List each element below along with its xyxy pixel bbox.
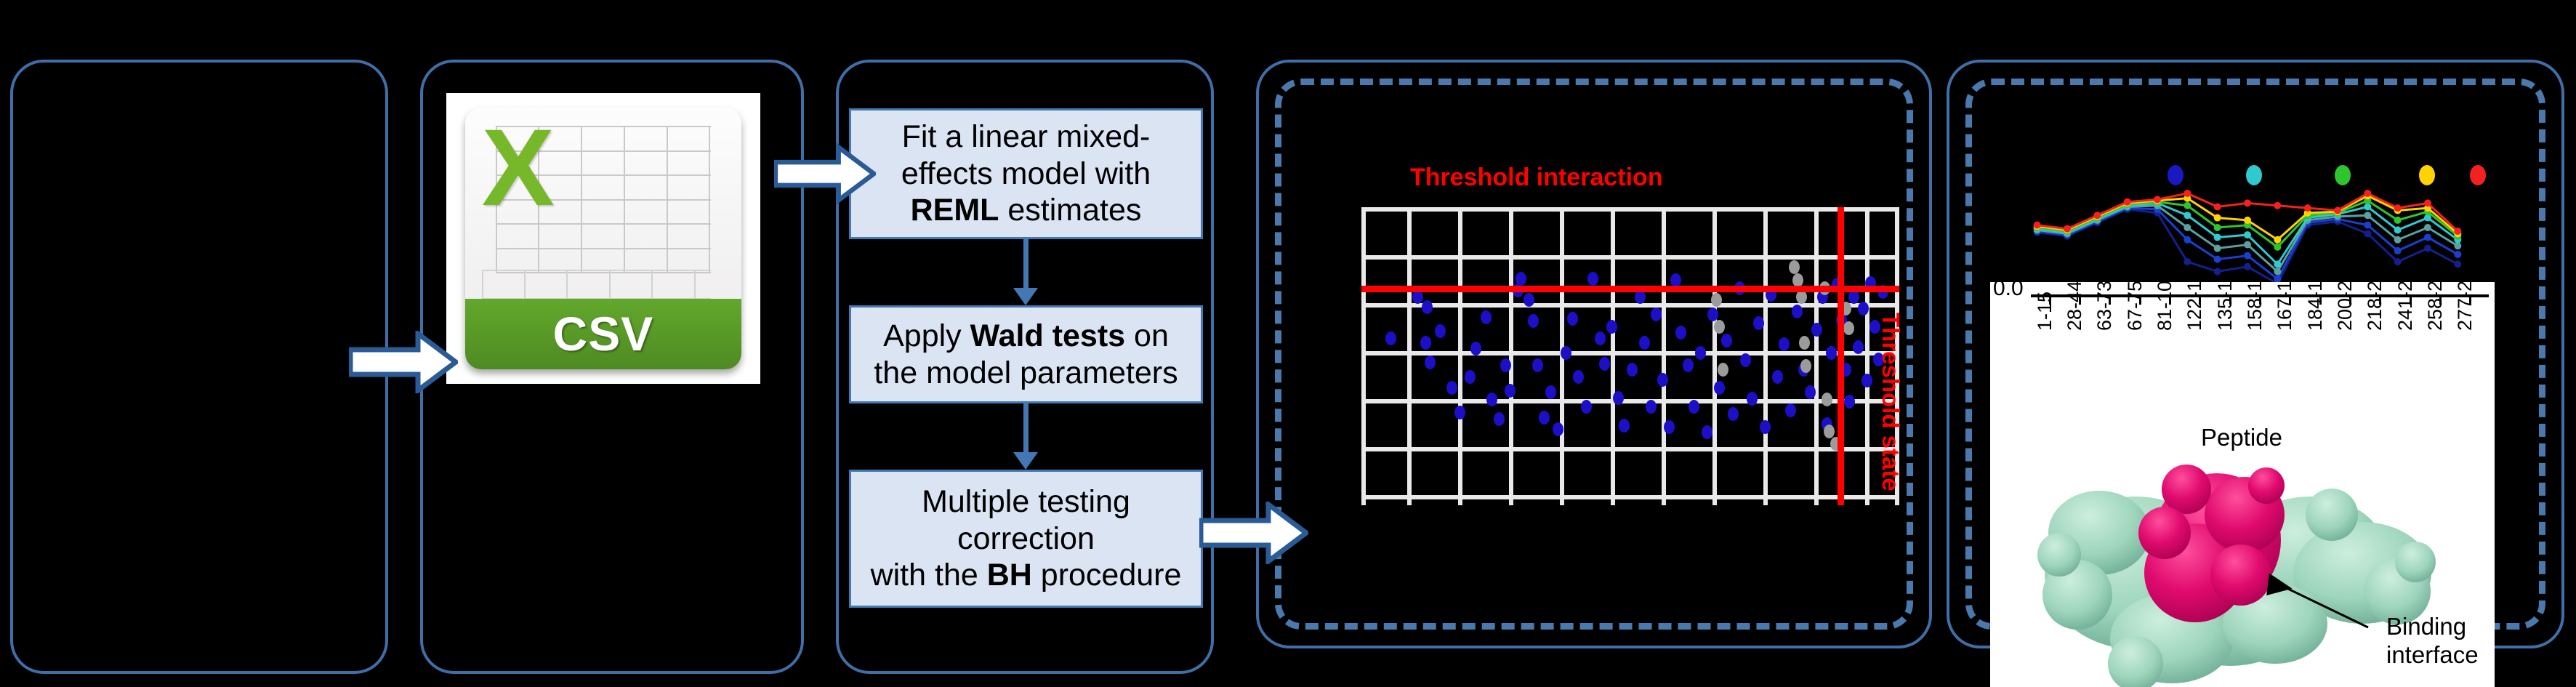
scatter-point (1646, 400, 1657, 414)
scatter-point (1539, 411, 1550, 425)
peptide-series-point (2244, 199, 2251, 206)
peptide-series-point (2424, 224, 2431, 231)
grid-line-v (1763, 207, 1768, 505)
scatter-point (1500, 358, 1511, 372)
x-axis-tick-label: 1-15 (2034, 292, 2056, 331)
peptide-series-point (2394, 247, 2402, 254)
scatter-point (1844, 395, 1855, 409)
scatter-point (1528, 314, 1539, 328)
scatter-point (1675, 326, 1686, 340)
threshold-state-label: Threshold state (1877, 313, 1904, 491)
y-axis-zero-label: 0.0 (1993, 282, 2024, 301)
connector-1 (1023, 239, 1029, 292)
peptide-series-point (2424, 233, 2431, 241)
peptide-series-point (2183, 224, 2191, 231)
grid-line-v (1712, 207, 1717, 505)
peptide-series-point (2394, 204, 2402, 212)
scatter-point (1826, 346, 1837, 360)
scatter-point (1664, 420, 1675, 434)
peptide-series-point (2183, 190, 2191, 197)
scatter-point (1843, 321, 1854, 335)
scatter-point (1567, 312, 1578, 326)
connector-2-arrowhead (1013, 452, 1038, 470)
peptide-series-point (2244, 217, 2251, 224)
scatter-point (1573, 370, 1584, 384)
peptide-series-point (2274, 268, 2281, 275)
peptide-series-point (2154, 196, 2161, 203)
peptide-series-point (2394, 258, 2402, 265)
legend-dot-yellow (2419, 165, 2435, 185)
multiple-testing-box[interactable]: Multiple testingcorrectionwith the BH pr… (849, 470, 1203, 608)
scatter-point (1435, 324, 1446, 338)
scatter-point (1606, 320, 1617, 334)
scatter-point (1702, 425, 1712, 439)
scatter-point (1718, 363, 1728, 377)
peptide-series-point (2214, 203, 2221, 210)
scatter-point (1858, 302, 1869, 316)
peptide-series-point (2214, 268, 2221, 275)
x-axis-tick-label: 218-237 (2364, 282, 2386, 331)
grid-line-h (1361, 351, 1899, 355)
scatter-point (1422, 300, 1433, 314)
scatter-point (1516, 272, 1526, 286)
legend-dot-green (2335, 165, 2351, 185)
threshold-state-line (1838, 207, 1844, 505)
peptide-series-point (2364, 230, 2371, 237)
scatter-point (1689, 400, 1699, 414)
binding-interface-line-2: interface (2386, 641, 2479, 670)
scatter-point (1683, 358, 1694, 372)
peptide-series-point (2454, 260, 2461, 268)
scatter-point (1651, 308, 1662, 321)
grid-line-h (1361, 255, 1899, 260)
panel-input (10, 60, 388, 674)
peptide-series-point (2214, 224, 2221, 231)
grid-line-v (1814, 207, 1819, 505)
connector-1-arrowhead (1013, 288, 1038, 305)
fit-model-box-text: Fit a linear mixed-effects model withREM… (894, 116, 1158, 232)
scatter-point (1800, 359, 1811, 373)
peptide-series-point (2364, 190, 2371, 197)
scatter-point (1799, 336, 1810, 350)
peptide-series-point (2274, 202, 2281, 209)
peptide-series-point (2274, 236, 2281, 244)
scatter-point (1587, 272, 1598, 286)
peptide-series-point (2034, 222, 2041, 229)
grid-line-v (1611, 207, 1615, 505)
grid-line-h (1361, 303, 1899, 308)
scatter-point (1420, 336, 1431, 350)
wald-tests-box-text: Apply Wald tests onthe model parameters (866, 315, 1185, 394)
scatter-point (1714, 320, 1725, 334)
scatter-point (1454, 406, 1465, 419)
wald-tests-box[interactable]: Apply Wald tests onthe model parameters (849, 305, 1203, 403)
scatter-point (1532, 358, 1543, 372)
peptide-series-point (2454, 228, 2461, 235)
figure-canvas: X CSV Fit a linear mixed-effects model w… (0, 0, 2576, 687)
x-axis-tick-label: 184-199 (2304, 282, 2327, 331)
scatter-point (1465, 370, 1476, 384)
excel-x-glyph: X (482, 113, 555, 222)
threshold-interaction-label: Threshold interaction (1410, 164, 1663, 192)
scatter-point (1619, 419, 1630, 433)
csv-file-icon: X CSV (446, 93, 760, 384)
peptide-series-point (2214, 245, 2221, 252)
scatter-point (1385, 332, 1396, 345)
scatter-point (1545, 385, 1556, 399)
arrow-analysis-to-results (1199, 502, 1308, 564)
scatter-point (1740, 353, 1751, 367)
scatter-point (1714, 381, 1725, 395)
scatter-point (1595, 332, 1606, 345)
peptide-series-point (2424, 199, 2431, 206)
scatter-point (1695, 346, 1706, 360)
grid-line-v (1458, 207, 1462, 505)
scatter-point (1707, 308, 1718, 321)
peptide-series-point (2183, 236, 2191, 244)
scatter-point (1760, 420, 1771, 434)
grid-line-h (1361, 399, 1899, 403)
x-axis-tick-label: 67-75 (2124, 282, 2146, 331)
scatter-point (1822, 393, 1832, 406)
x-axis-tick-label: 28-44 (2064, 282, 2086, 331)
connector-2 (1023, 403, 1029, 456)
peptide-series-point (2274, 260, 2281, 268)
x-axis-tick-label: 277-284 (2454, 282, 2476, 331)
x-axis-tick-label: 63-73 (2093, 282, 2116, 331)
scatter-point (1728, 407, 1739, 421)
binding-interface-line-1: Binding (2386, 613, 2479, 641)
grid-line-v (1407, 207, 1412, 505)
legend-dot-red (2470, 165, 2486, 185)
peptide-series-point (2244, 241, 2251, 249)
scatter-point (1721, 334, 1732, 347)
scatter-point (1486, 393, 1497, 406)
legend-dot-blue (2168, 165, 2183, 185)
legend-dot-cyan (2246, 165, 2262, 185)
peptide-series-point (2364, 212, 2371, 219)
scatter-point (1505, 384, 1516, 398)
scatter-point (1481, 310, 1492, 324)
scatter-point (1779, 337, 1790, 351)
scatter-point (1494, 412, 1505, 426)
scatter-point (1805, 385, 1816, 399)
csv-icon-band: CSV (465, 299, 741, 369)
scatter-point (1561, 346, 1571, 360)
scatter-point (1599, 357, 1610, 371)
peptide-series-point (2364, 222, 2371, 229)
peptide-series-point (2334, 206, 2341, 214)
binding-interface-label: Binding interface (2386, 613, 2479, 670)
x-axis-tick-label: 135-144 (2214, 282, 2237, 331)
arrow-csv-to-analysis (774, 142, 876, 205)
scatter-point (1811, 323, 1822, 337)
peptide-series-point (2424, 245, 2431, 252)
x-axis-tick-label: 122-129 (2183, 282, 2206, 331)
multiple-testing-box-text: Multiple testingcorrectionwith the BH pr… (864, 481, 1189, 597)
peptide-series-point (2183, 202, 2191, 209)
x-axis-tick-label: 81-101 (2154, 282, 2176, 331)
peptide-structure-card: 0.0 1-1528-4463-7367-7581-101122-129135-… (1990, 282, 2495, 687)
scatter-point (1425, 355, 1436, 369)
x-axis-tick-label: 241-257 (2394, 282, 2417, 331)
x-axis-tick-label: 167-180 (2274, 282, 2296, 331)
grid-line-v (1509, 207, 1513, 505)
threshold-interaction-line (1361, 286, 1899, 292)
peptide-line-chart-svg (2006, 156, 2544, 294)
scatter-point (1657, 373, 1668, 387)
scatter-point (1581, 400, 1592, 414)
peptide-series-point (2064, 225, 2071, 233)
grid-line-v (1662, 207, 1666, 505)
scatter-point (1785, 403, 1796, 417)
peptide-series-point (2214, 214, 2221, 222)
scatter-point (1711, 293, 1722, 307)
peptide-series-point (2124, 198, 2131, 206)
peptide-series-point (2214, 233, 2221, 241)
fit-model-box[interactable]: Fit a linear mixed-effects model withREM… (849, 108, 1203, 239)
peptide-series-point (2304, 204, 2311, 212)
peptide-line-chart (2006, 156, 2544, 294)
interaction-scatter-plot (1361, 207, 1899, 505)
scatter-point (1792, 305, 1803, 318)
peptide-series-point (2214, 256, 2221, 263)
peptide-series-point (2274, 244, 2281, 251)
grid-line-h (1361, 447, 1899, 451)
peptide-series-point (2244, 231, 2251, 238)
csv-icon-caption: CSV (465, 306, 741, 361)
scatter-point (1446, 381, 1457, 395)
arrow-input-to-csv (349, 331, 458, 393)
scatter-point (1753, 316, 1764, 330)
scatter-point (1627, 363, 1638, 377)
grid-line-h (1361, 495, 1899, 499)
scatter-point (1639, 336, 1650, 350)
scatter-point (1772, 370, 1783, 384)
csv-icon-body: X CSV (465, 108, 741, 369)
grid-line-v (1865, 207, 1869, 505)
grid-line-h (1361, 207, 1899, 212)
peptide-series-point (2394, 226, 2402, 233)
peptide-series-point (2244, 252, 2251, 260)
peptide-series-point (2183, 258, 2191, 265)
scatter-point (1524, 293, 1534, 307)
x-axis-tick-label: 158-166 (2244, 282, 2266, 331)
peptide-series-point (2244, 263, 2251, 270)
x-axis-tick-label: 200-214 (2334, 282, 2356, 331)
peptide-series-point (2183, 212, 2191, 219)
grid-line-v (1361, 207, 1366, 505)
scatter-point (1789, 260, 1800, 274)
peptide-series-point (2394, 236, 2402, 244)
x-axis-tick-label: 258-266 (2424, 282, 2447, 331)
scatter-point (1824, 425, 1835, 438)
scatter-point (1861, 374, 1872, 387)
peptide-series-point (2454, 251, 2461, 258)
peptide-series-point (2093, 212, 2101, 219)
peptide-series-point (2394, 217, 2402, 224)
scatter-point (1747, 392, 1758, 406)
